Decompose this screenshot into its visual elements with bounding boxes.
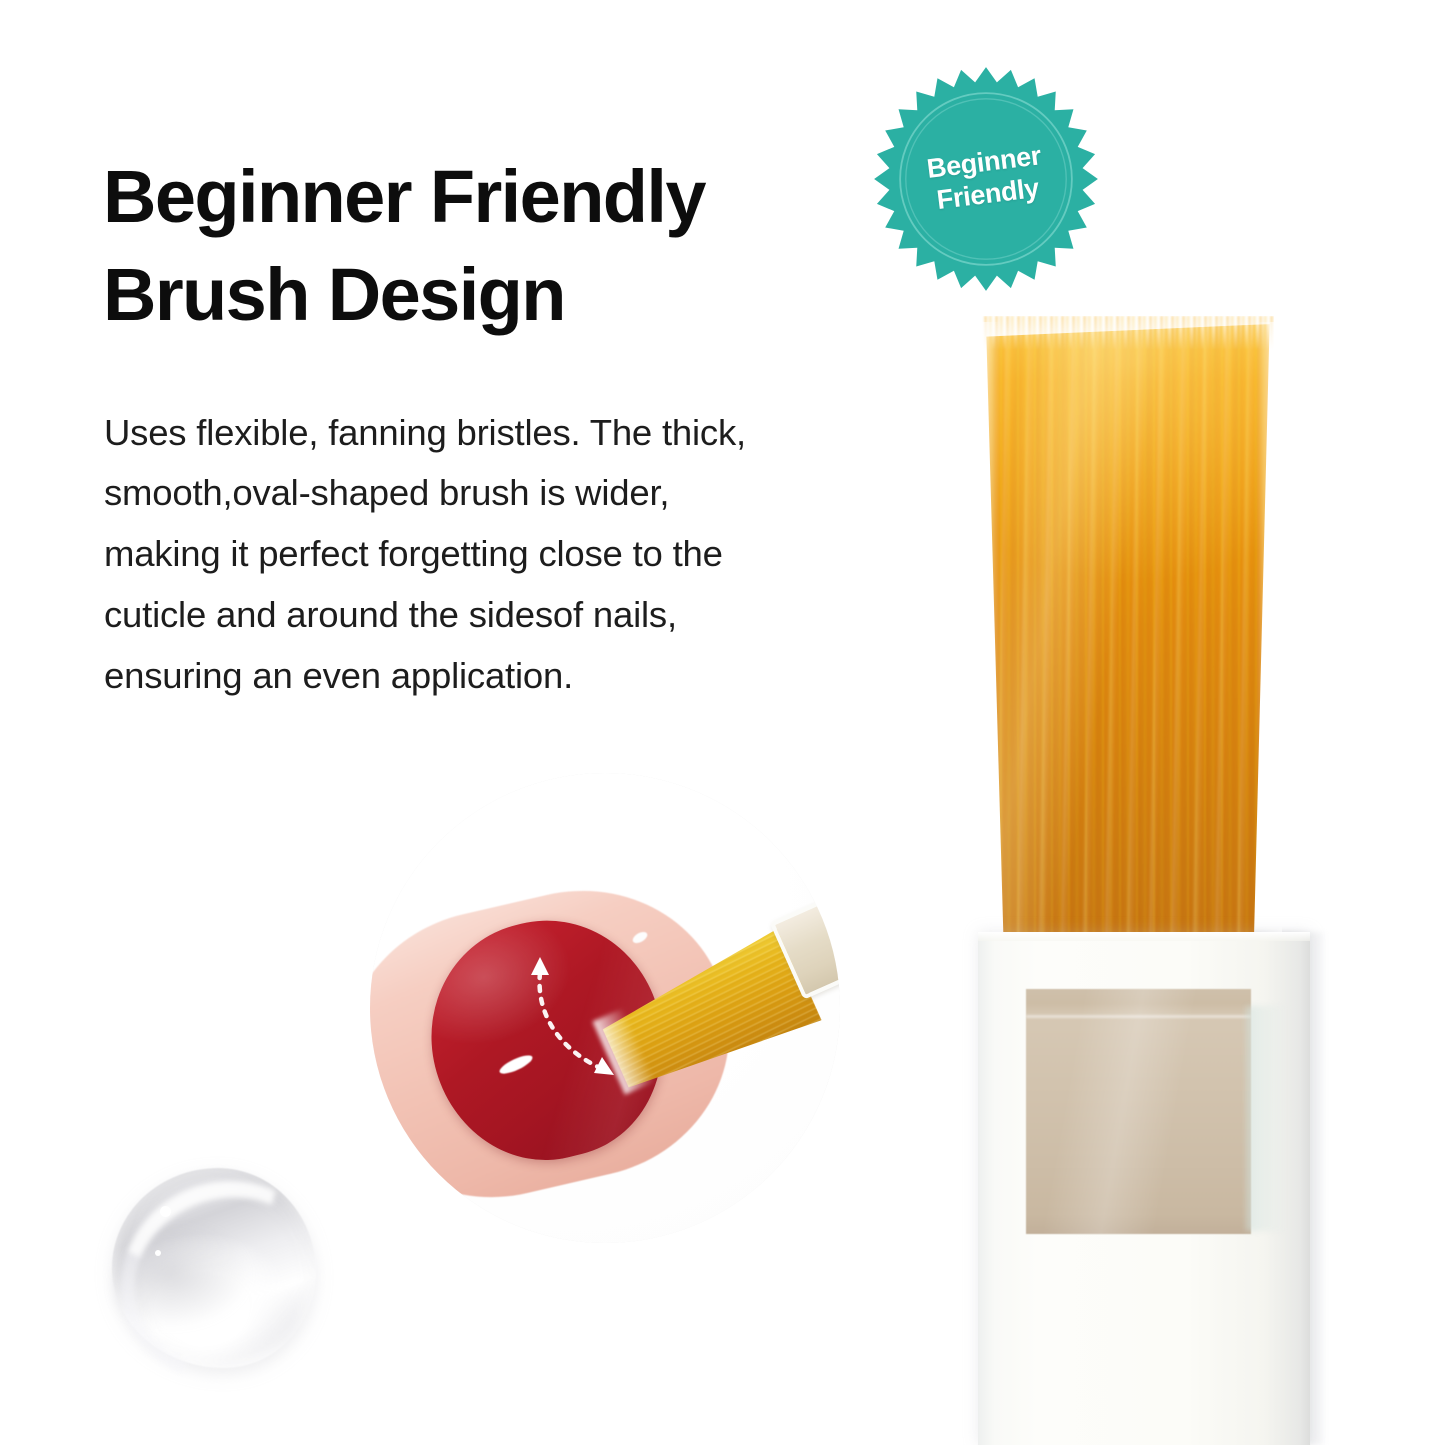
droplet-specular-dot-small [155,1250,161,1256]
handle-inner-reflection [1246,1006,1284,1231]
brush-product-photo [960,316,1360,1445]
ferrule-sheen [1026,989,1251,1234]
bristle-edge-right [1256,322,1282,954]
beginner-friendly-badge: Beginner Friendly [873,66,1099,292]
page-title: Beginner Friendly Brush Design [103,148,863,345]
bristle-tips [982,316,1274,350]
product-infographic-canvas: Beginner Friendly Brush Design Uses flex… [0,0,1445,1445]
handle-top-lip [978,932,1310,941]
description-text: Uses flexible, fanning bristles. The thi… [104,403,904,708]
droplet-rim-highlight [91,1150,362,1413]
dashed-double-arrow-icon [518,955,638,1095]
nail-application-inset-photo [370,773,840,1243]
water-droplet [112,1168,316,1368]
starburst-badge-icon [873,66,1099,292]
droplet-specular-dot-large [160,1206,171,1217]
bristle-sheen [982,324,1274,954]
bristle-edge-left [974,322,1000,954]
brush-bristles [982,324,1274,954]
